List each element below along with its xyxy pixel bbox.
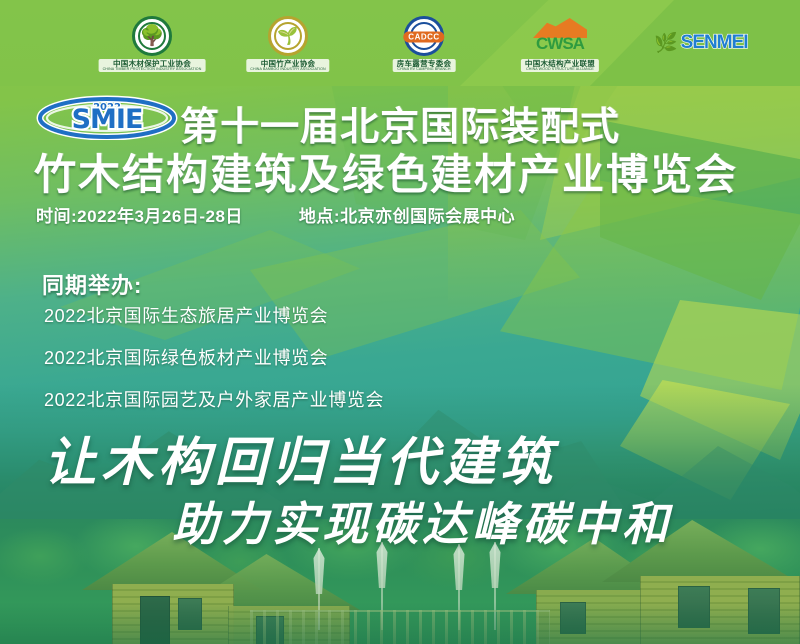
sponsor-logo-china-timber-protection-association[interactable]: 🌳 中国木材保护工业协会 CHINA TIMBER PROTECTION IND… — [106, 12, 198, 74]
event-time: 时间:2022年3月26日-28日 — [36, 202, 243, 227]
sponsor-logo-senmei[interactable]: 🌿 SENMEI — [650, 12, 754, 74]
sponsor-logo-cwsa-china-wood-structure-alliance[interactable]: CWSA 中国木结构产业联盟 CHINA WOOD STRUCTURE ALLI… — [514, 12, 606, 74]
page-title-line2: 竹木结构建筑及绿色建材产业博览会 — [34, 141, 738, 202]
sponsor-logo-caption: 中国木材保护工业协会 CHINA TIMBER PROTECTION INDUS… — [99, 59, 206, 72]
senmei-wordmark: SENMEI — [681, 32, 748, 54]
list-item: 2022北京国际生态旅居产业博览会 — [44, 302, 384, 328]
scene-foreground-shadow — [0, 602, 800, 644]
cwsa-badge-text: CWSA — [535, 34, 585, 54]
exhibition-poster: 🌳 中国木材保护工业协会 CHINA TIMBER PROTECTION IND… — [0, 0, 800, 644]
sponsor-logo-caption: 中国竹产业协会 CHINA BAMBOO INDUSTRY ASSOCIATIO… — [246, 59, 329, 72]
sponsor-logo-row: 🌳 中国木材保护工业协会 CHINA TIMBER PROTECTION IND… — [0, 0, 800, 86]
event-venue: 地点:北京亦创国际会展中心 — [299, 202, 515, 227]
list-item: 2022北京国际绿色板材产业博览会 — [44, 344, 384, 370]
sponsor-logo-caption: 中国木结构产业联盟 CHINA WOOD STRUCTURE ALLIANCE — [521, 59, 599, 72]
smie-oval-logo[interactable]: 2022 SMIE — [36, 92, 178, 140]
tree-shield-icon: 🌳 — [132, 16, 172, 56]
event-meta-row: 时间:2022年3月26日-28日 地点:北京亦创国际会展中心 — [36, 202, 515, 227]
smie-logo-svg: 2022 SMIE — [36, 92, 178, 140]
slogan-line1: 让木构回归当代建筑 — [44, 420, 557, 495]
sponsor-logo-cadcc-rv-camping-committee[interactable]: CADCC 房车露营专委会 CHINA RV CAMPING BRANCH — [378, 12, 470, 74]
cadcc-badge-text: CADCC — [403, 31, 444, 42]
concurrent-events-list: 2022北京国际生态旅居产业博览会 2022北京国际绿色板材产业博览会 2022… — [44, 302, 384, 412]
sponsor-logo-caption: 房车露营专委会 CHINA RV CAMPING BRANCH — [393, 59, 456, 72]
leaf-icon: 🌿 — [654, 34, 678, 53]
list-item: 2022北京国际园艺及户外家居产业博览会 — [44, 386, 384, 412]
concurrent-events-heading: 同期举办: — [42, 268, 142, 300]
bamboo-seal-icon: 🌱 — [268, 16, 308, 56]
smie-wordmark-text: SMIE — [72, 104, 143, 135]
house-cwsa-icon: CWSA — [527, 18, 593, 58]
sponsor-logo-bamboo-industry-association[interactable]: 🌱 中国竹产业协会 CHINA BAMBOO INDUSTRY ASSOCIAT… — [242, 12, 334, 74]
senmei-leaf-icon: 🌿 SENMEI — [654, 26, 750, 60]
slogan-line2: 助力实现碳达峰碳中和 — [172, 488, 672, 554]
cadcc-badge-icon: CADCC — [404, 16, 444, 56]
